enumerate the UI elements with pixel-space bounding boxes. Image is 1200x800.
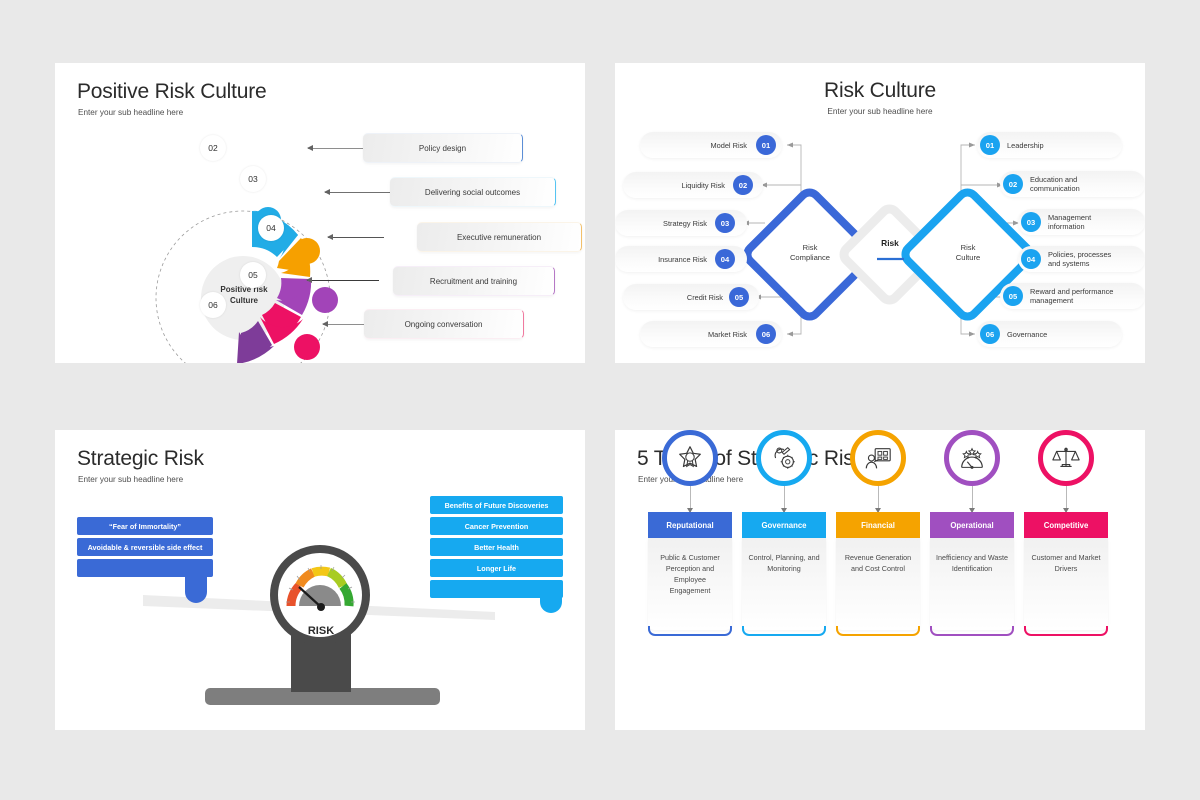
item-label: Delivering social outcomes xyxy=(425,188,520,197)
connector-stem xyxy=(690,486,691,512)
connector-stem xyxy=(972,486,973,512)
card-accent-foot xyxy=(648,626,732,636)
pill-badge-02[interactable]: 02 xyxy=(733,175,753,195)
segment-badge-02[interactable]: 02 xyxy=(200,135,226,161)
card-title: Competitive xyxy=(1024,512,1108,538)
pill-badge-04[interactable]: 04 xyxy=(1021,249,1041,269)
pill-badge-04[interactable]: 04 xyxy=(715,249,735,269)
slide-5-types-of-strategic-risk[interactable]: 5 Types of Strategic Risk Enter your sub… xyxy=(615,430,1145,730)
right-item-1[interactable]: Cancer Prevention xyxy=(430,517,563,535)
right-item-0[interactable]: Benefits of Future Discoveries xyxy=(430,496,563,514)
icon-ring xyxy=(944,430,1000,486)
scales-balance-icon xyxy=(1051,443,1081,473)
rating-gauge-icon xyxy=(957,443,987,473)
card-title: Operational xyxy=(930,512,1014,538)
card-accent-foot xyxy=(930,626,1014,636)
pill-badge-01[interactable]: 01 xyxy=(756,135,776,155)
item-box-ongoing-conversation[interactable]: Ongoing conversation xyxy=(364,309,524,339)
pill-badge-06[interactable]: 06 xyxy=(756,324,776,344)
item-label: Recruitment and training xyxy=(430,277,517,286)
connector-stem xyxy=(1066,486,1067,512)
card-title: Reputational xyxy=(648,512,732,538)
diamond-label-risk: Risk xyxy=(861,238,919,249)
pill-badge-02[interactable]: 02 xyxy=(1003,174,1023,194)
pill-label: Liquidity Risk xyxy=(653,181,725,190)
pill-label: Insurance Risk xyxy=(625,255,707,264)
segment-badge-05[interactable]: 05 xyxy=(240,262,266,288)
item-label: Executive remuneration xyxy=(457,233,541,242)
item-box-recruitment-and-training[interactable]: Recruitment and training xyxy=(393,266,555,296)
presentation-icon xyxy=(863,443,893,473)
item-label: Ongoing conversation xyxy=(405,320,483,329)
card-accent-foot xyxy=(742,626,826,636)
connector-stem xyxy=(784,486,785,512)
pill-label: Reward and performance management xyxy=(1030,287,1145,306)
icon-ring xyxy=(662,430,718,486)
connector-stem xyxy=(878,486,879,512)
pill-label: Credit Risk xyxy=(657,293,723,302)
diamond-label-risk-compliance: Risk Compliance xyxy=(775,243,845,264)
pill-label: Strategy Risk xyxy=(635,219,707,228)
icon-ring xyxy=(756,430,812,486)
card-title: Financial xyxy=(836,512,920,538)
connector-arrow-02 xyxy=(308,148,363,149)
planning-gear-icon xyxy=(769,443,799,473)
card-body: Public & Customer Perception and Employe… xyxy=(648,538,732,630)
pill-label: Policies, processes and systems xyxy=(1048,250,1145,269)
slide-positive-risk-culture[interactable]: Positive Risk Culture Enter your sub hea… xyxy=(55,63,585,363)
card-body: Customer and Market Drivers xyxy=(1024,538,1108,630)
connector-arrow-03 xyxy=(325,192,398,193)
card-body: Control, Planning, and Monitoring xyxy=(742,538,826,630)
segment-05 xyxy=(260,303,320,360)
pill-badge-01[interactable]: 01 xyxy=(980,135,1000,155)
pill-badge-03[interactable]: 03 xyxy=(1021,212,1041,232)
right-item-3[interactable]: Longer Life xyxy=(430,559,563,577)
item-box-policy-design[interactable]: Policy design xyxy=(363,133,523,163)
item-box-delivering-social-outcomes[interactable]: Delivering social outcomes xyxy=(390,177,556,207)
card-title: Governance xyxy=(742,512,826,538)
left-item-base xyxy=(77,559,213,577)
connector-arrow-04 xyxy=(328,237,384,238)
icon-ring xyxy=(1038,430,1094,486)
connector-arrow-05 xyxy=(307,280,379,281)
star-award-icon xyxy=(675,443,705,473)
segment-badge-03[interactable]: 03 xyxy=(240,166,266,192)
pill-badge-05[interactable]: 05 xyxy=(1003,286,1023,306)
pill-label: Education and communication xyxy=(1030,175,1142,194)
pill-label: Management information xyxy=(1048,213,1145,232)
card-accent-foot xyxy=(836,626,920,636)
slide-risk-culture[interactable]: Risk Culture Enter your sub headline her… xyxy=(615,63,1145,363)
right-item-2[interactable]: Better Health xyxy=(430,538,563,556)
pill-badge-05[interactable]: 05 xyxy=(729,287,749,307)
pill-label: Market Risk xyxy=(677,330,747,339)
right-item-base xyxy=(430,580,563,598)
card-body: Inefficiency and Waste Identification xyxy=(930,538,1014,630)
left-item-0[interactable]: “Fear of Immortality” xyxy=(77,517,213,535)
pill-badge-03[interactable]: 03 xyxy=(715,213,735,233)
diamond-label-risk-culture: Risk Culture xyxy=(933,243,1003,264)
item-box-executive-remuneration[interactable]: Executive remuneration xyxy=(417,222,582,252)
slide-deck: Positive Risk Culture Enter your sub hea… xyxy=(0,0,1200,800)
icon-ring xyxy=(850,430,906,486)
slide-strategic-risk[interactable]: Strategic Risk Enter your sub headline h… xyxy=(55,430,585,730)
pill-label: Governance xyxy=(1007,330,1117,339)
gauge-label: RISK xyxy=(287,625,355,637)
left-item-1[interactable]: Avoidable & reversible side effect xyxy=(77,538,213,556)
segment-badge-04[interactable]: 04 xyxy=(258,215,284,241)
pill-label: Leadership xyxy=(1007,141,1117,150)
card-body: Revenue Generation and Cost Control xyxy=(836,538,920,630)
card-accent-foot xyxy=(1024,626,1108,636)
pill-label: Model Risk xyxy=(677,141,747,150)
segment-badge-06[interactable]: 06 xyxy=(200,292,226,318)
pill-badge-06[interactable]: 06 xyxy=(980,324,1000,344)
item-label: Policy design xyxy=(419,144,466,153)
